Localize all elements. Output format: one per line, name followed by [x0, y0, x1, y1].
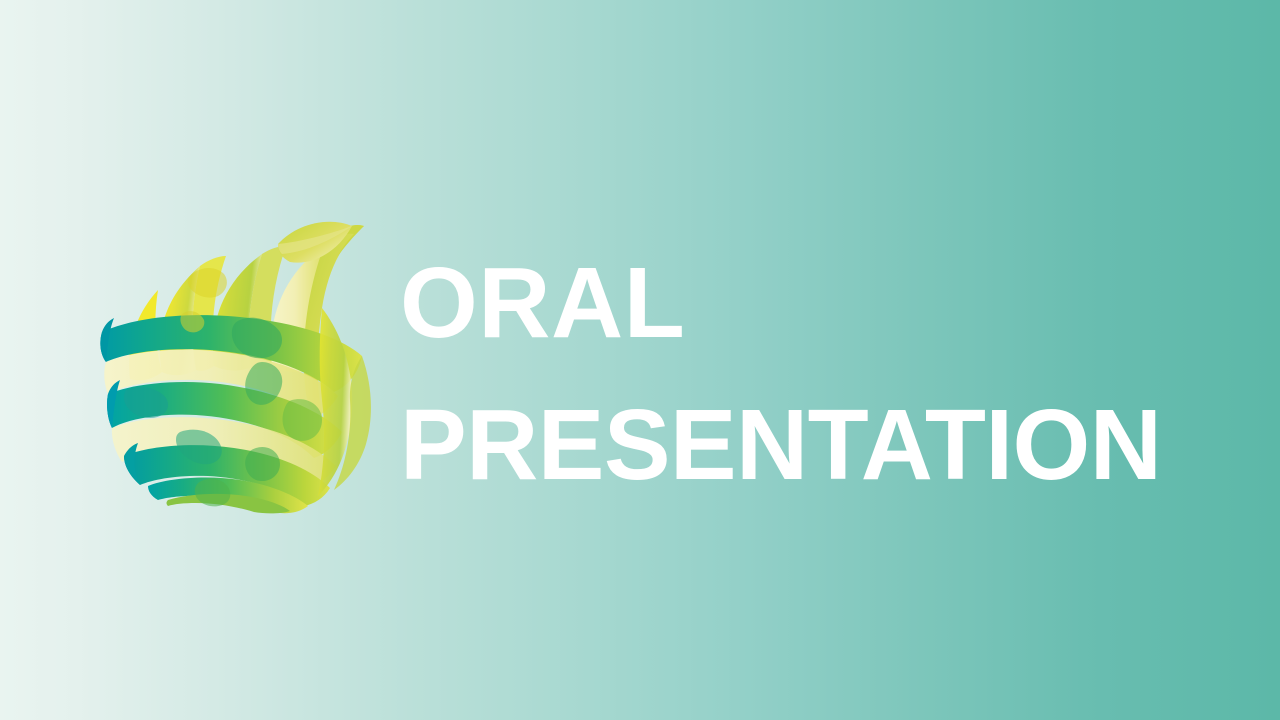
page-title: ORAL PRESENTATION — [400, 232, 1200, 516]
slide-canvas: ORAL PRESENTATION — [0, 0, 1280, 720]
title-line-presentation: PRESENTATION — [400, 374, 1200, 516]
logo-lower-right-arms — [318, 308, 371, 496]
title-line-oral: ORAL — [400, 232, 1200, 374]
spiral-globe-leaf-logo — [96, 204, 378, 514]
